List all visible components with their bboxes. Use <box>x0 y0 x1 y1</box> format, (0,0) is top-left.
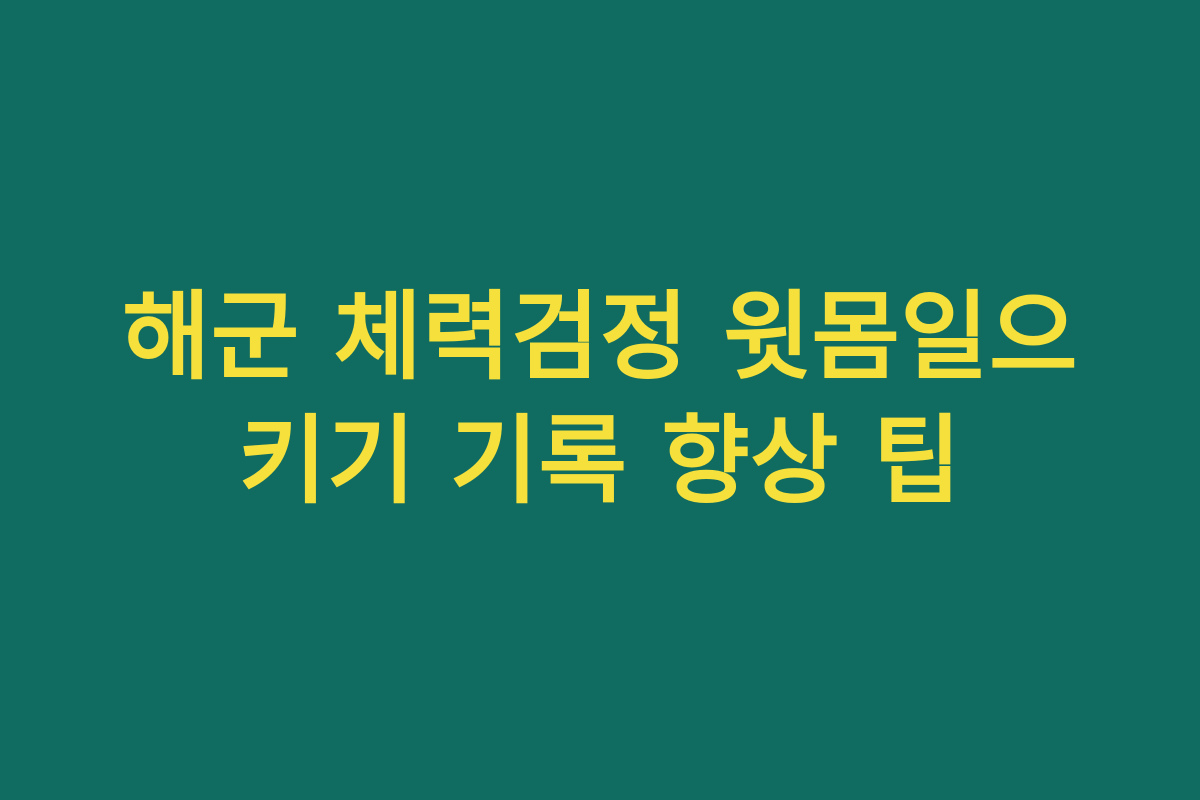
page-title: 해군 체력검정 윗몸일으 키기 기록 향상 팁 <box>100 274 1100 525</box>
headline-line-1: 해군 체력검정 윗몸일으 <box>100 274 1100 402</box>
headline-line-2: 키기 기록 향상 팁 <box>100 398 1100 526</box>
banner-canvas: 해군 체력검정 윗몸일으 키기 기록 향상 팁 <box>0 0 1200 800</box>
